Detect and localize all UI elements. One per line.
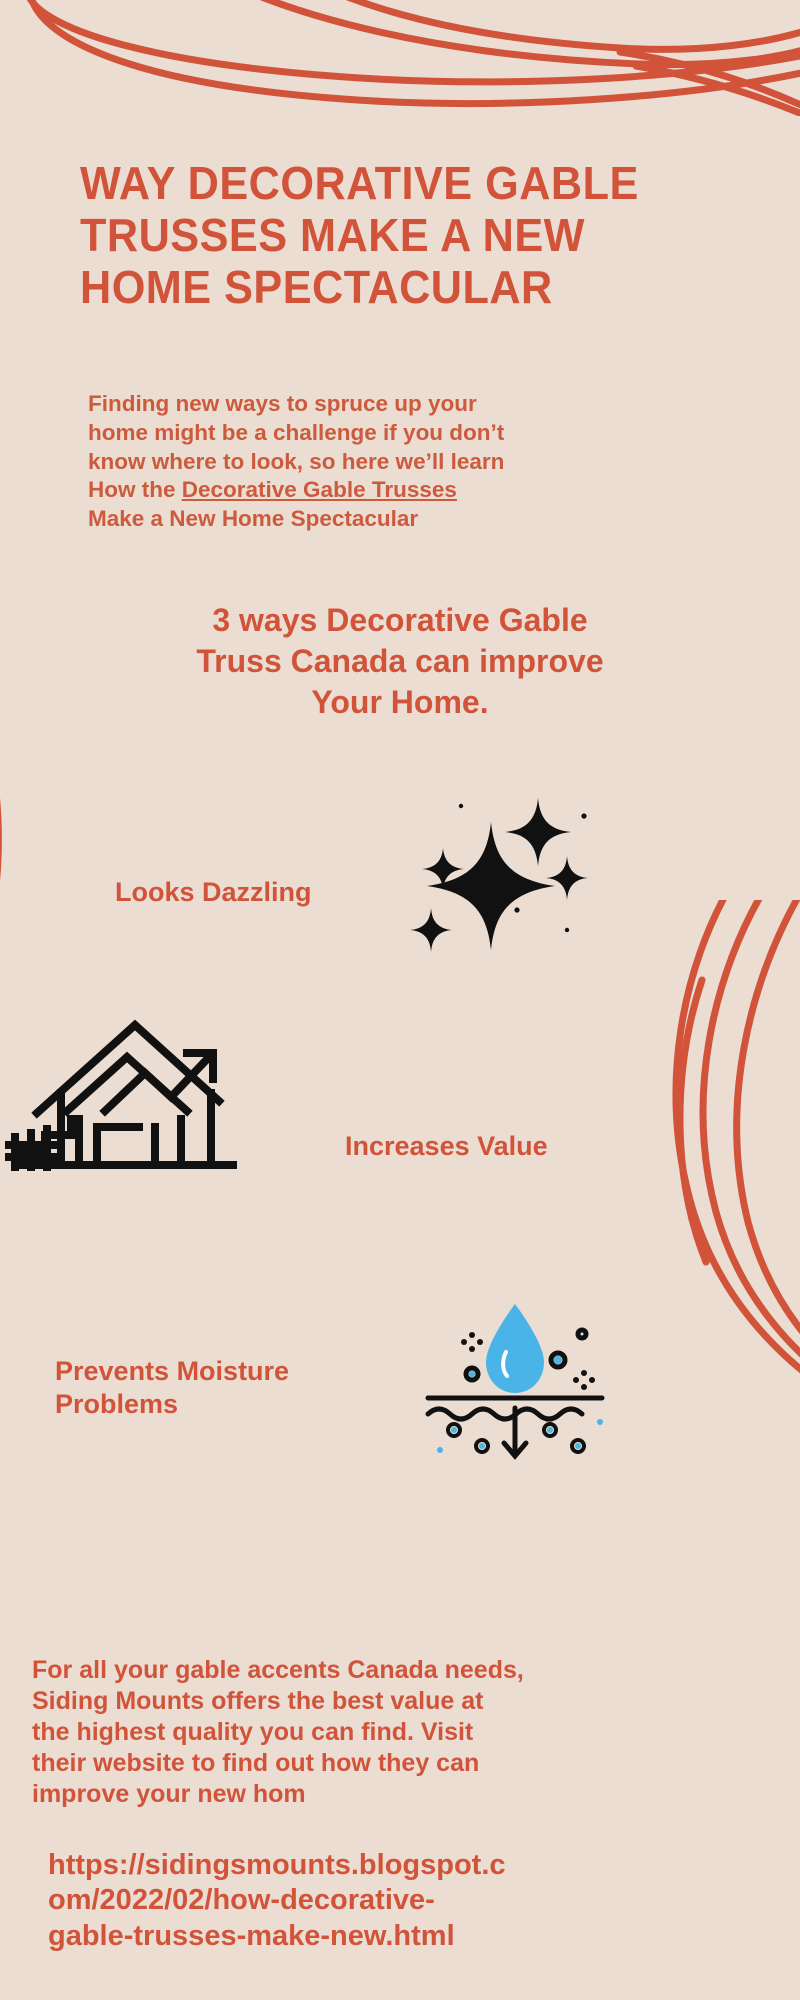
outro-line-5: improve your new hom	[32, 1780, 306, 1808]
outro-line-1: For all your gable accents Canada needs,	[32, 1656, 524, 1684]
intro-line-3: know where to look, so here we’ll learn	[88, 449, 504, 474]
intro-line-2: home might be a challenge if you don’t	[88, 420, 504, 445]
infographic-canvas: Way Decorative Gable Trusses Make a New …	[0, 0, 800, 2000]
url-line-3: gable-trusses-make-new.html	[48, 1920, 455, 1952]
intro-line-4-prefix: How the	[88, 477, 182, 502]
bubble	[578, 1330, 586, 1338]
blog-url[interactable]: https://sidingsmounts.blogspot.c om/2022…	[48, 1848, 768, 1954]
intro-line-5: Make a New Home Spectacular	[88, 506, 418, 531]
outro-line-4: their website to find out how they can	[32, 1749, 479, 1777]
ways-heading: 3 ways Decorative Gable Truss Canada can…	[80, 600, 720, 723]
url-line-2: om/2022/02/how-decorative-	[48, 1884, 435, 1916]
ways-heading-line-1: 3 ways Decorative Gable	[212, 602, 587, 638]
outro-line-3: the highest quality you can find. Visit	[32, 1718, 473, 1746]
feature-label-line-1: Prevents Moisture Problems	[55, 1356, 289, 1419]
page-title: Way Decorative Gable Trusses Make a New …	[80, 158, 700, 314]
sparkles-icon	[395, 790, 595, 970]
ways-heading-line-3: Your Home.	[311, 684, 488, 720]
feature-label-looks-dazzling: Looks Dazzling	[115, 876, 415, 909]
ways-heading-line-2: Truss Canada can improve	[196, 643, 603, 679]
feature-label-prevents-moisture-problems: Prevents Moisture Problems	[55, 1355, 385, 1421]
intro-paragraph: Finding new ways to spruce up your home …	[88, 390, 708, 534]
water-drop-soil-icon	[410, 1290, 620, 1470]
intro-line-1: Finding new ways to spruce up your	[88, 391, 477, 416]
feature-label-increases-value: Increases Value	[345, 1130, 645, 1163]
decorative-ribbon-right	[650, 900, 800, 1380]
droplet-shape	[486, 1304, 544, 1393]
outro-paragraph: For all your gable accents Canada needs,…	[32, 1655, 772, 1810]
house-growth-arrow-icon	[5, 1015, 245, 1180]
outro-line-2: Siding Mounts offers the best value at	[32, 1687, 483, 1715]
decorative-ribbon-top	[0, 0, 800, 116]
decorative-gable-trusses-link[interactable]: Decorative Gable Trusses	[182, 477, 457, 502]
url-line-1: https://sidingsmounts.blogspot.c	[48, 1849, 506, 1881]
